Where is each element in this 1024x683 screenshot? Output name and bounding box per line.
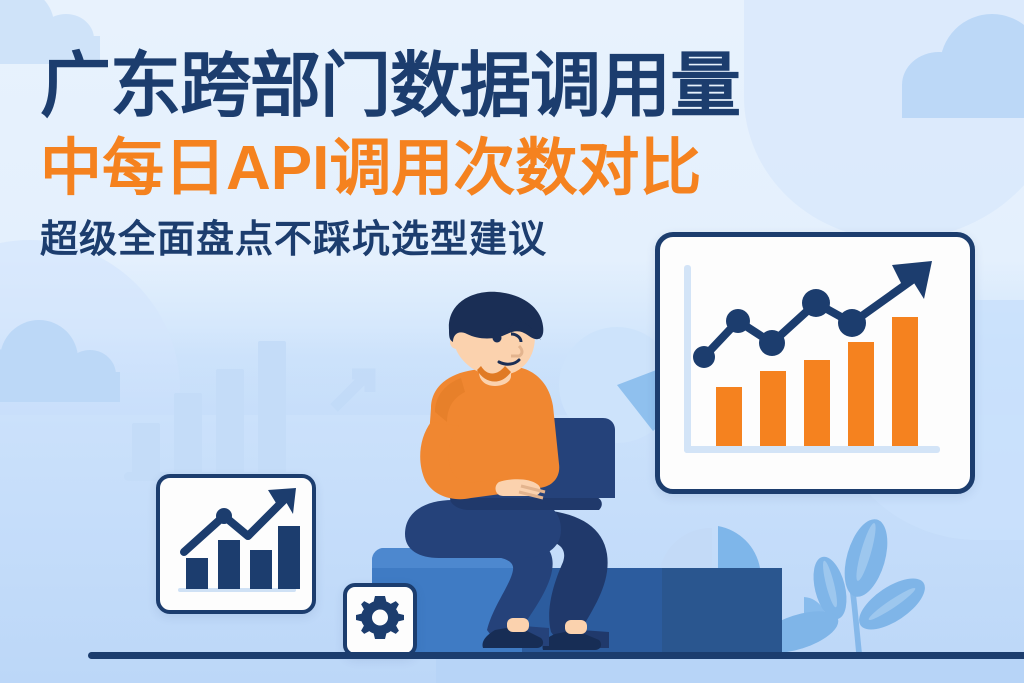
page-title-accent: 中每日API调用次数对比 [40,132,940,206]
gear-icon [356,596,404,644]
cloud-icon-left [0,320,108,402]
floor-shadow [436,659,1024,683]
floor-baseline [88,652,1024,659]
page-subtitle: 超级全面盘点不踩坑选型建议 [40,216,940,264]
platform-block-far [662,568,782,654]
bar-line-chart-icon [660,237,970,489]
person-with-laptop-illustration [395,296,665,662]
main-chart-card [655,232,975,494]
small-chart-card [156,474,316,614]
background-ghost-chart [132,355,292,485]
poster-canvas: 广东跨部门数据调用量 中每日API调用次数对比 超级全面盘点不踩坑选型建议 [0,0,1024,683]
trend-arrow-icon-background [330,360,382,412]
page-title: 广东跨部门数据调用量 [40,48,940,126]
bar-arrow-chart-icon [160,478,312,610]
settings-card[interactable] [343,583,417,657]
headline-group: 广东跨部门数据调用量 中每日API调用次数对比 超级全面盘点不踩坑选型建议 [40,48,940,264]
